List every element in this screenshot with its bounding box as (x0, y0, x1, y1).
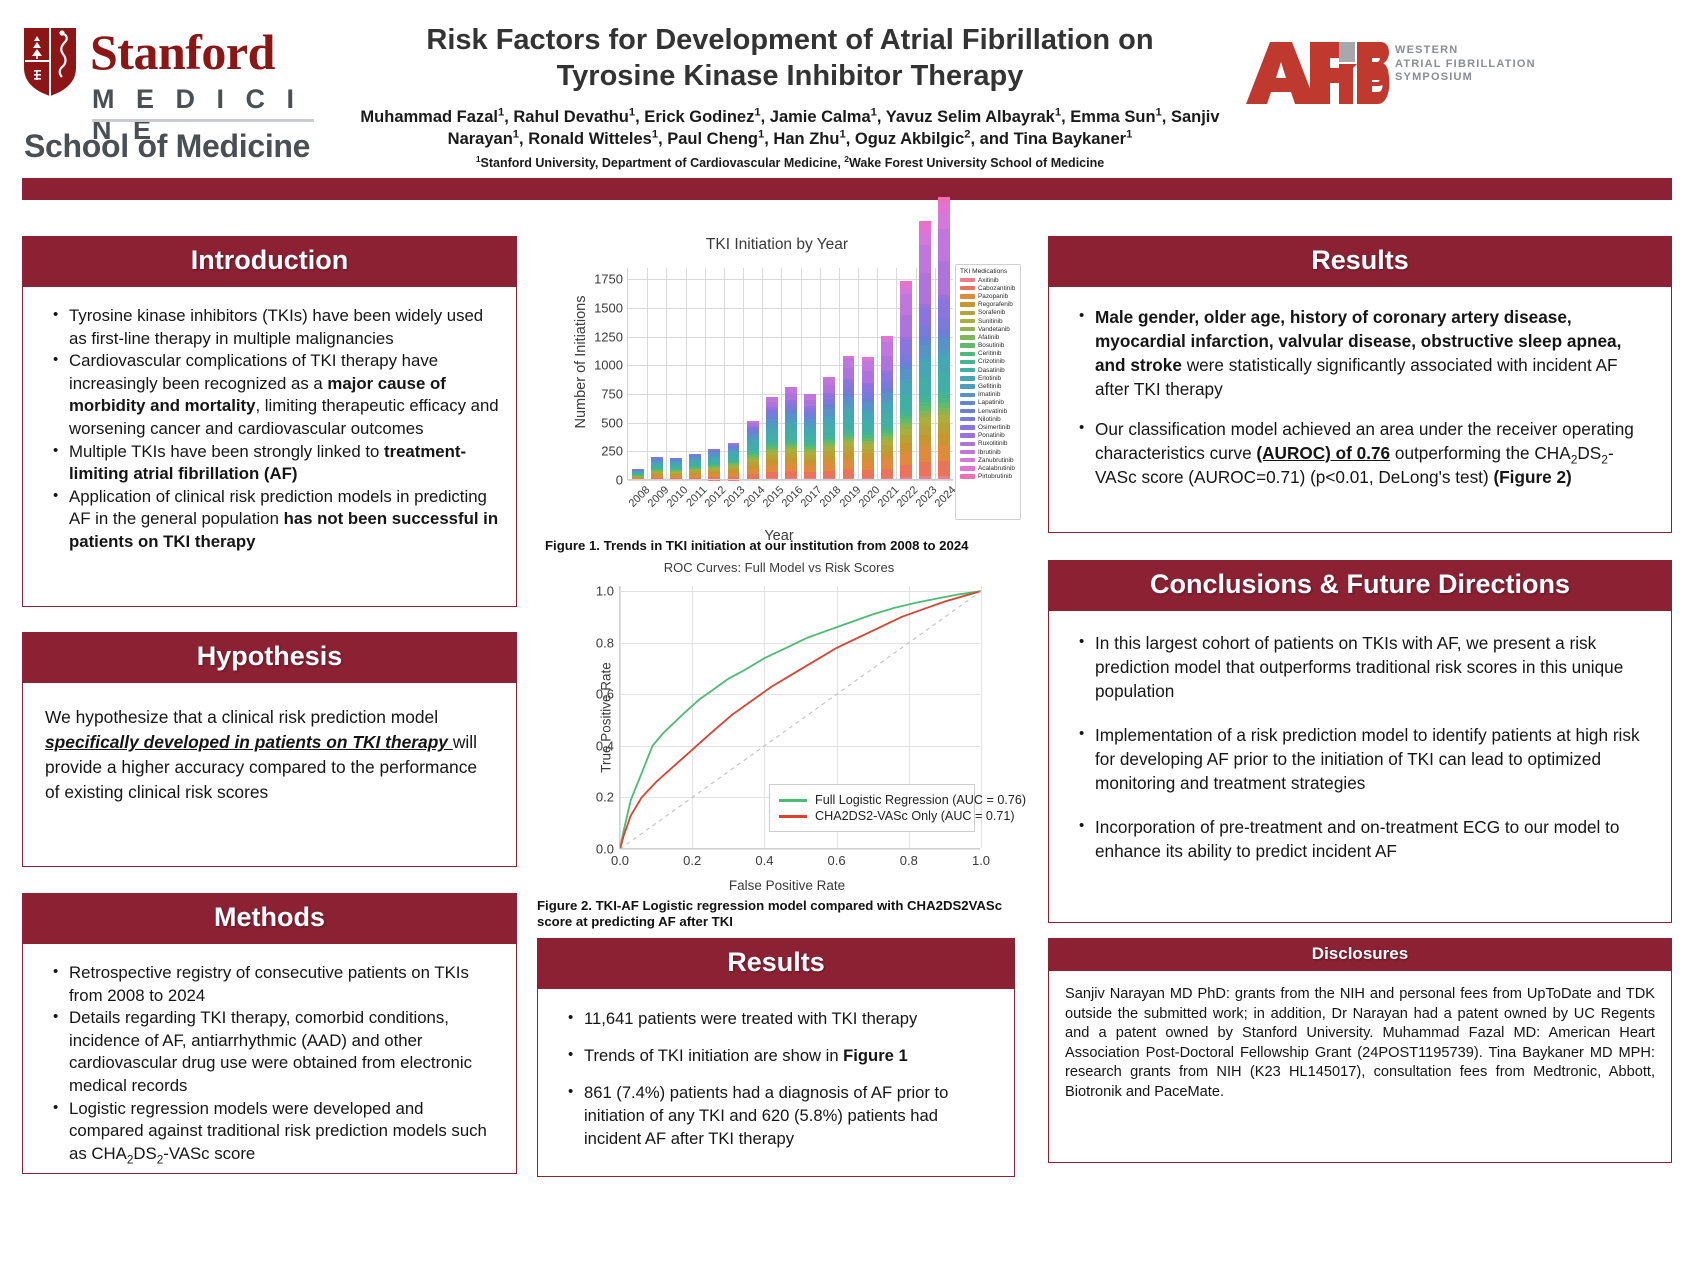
chart1-bar-segment (689, 466, 701, 467)
chart1-bar (689, 268, 701, 480)
afib-mark-icon (1240, 38, 1390, 111)
chart1-bar-segment (785, 414, 797, 420)
chart1-legend-item[interactable]: Lenvatinib (960, 407, 1017, 415)
chart1-bar-segment (785, 420, 797, 422)
hypothesis-panel: Hypothesis We hypothesize that a clinica… (22, 632, 517, 867)
chart1-bar (728, 268, 740, 480)
chart2-legend-label: CHA2DS2-VASc Only (AUC = 0.71) (815, 809, 1015, 823)
chart1-bar-segment (881, 356, 893, 371)
chart1-bar-segment (766, 418, 778, 420)
chart1-bar-segment (900, 337, 912, 340)
chart1-legend: TKI MedicationsAxitinibCabozantinibPazop… (955, 264, 1021, 520)
introduction-body: Tyrosine kinase inhibitors (TKIs) have b… (22, 287, 517, 607)
chart2-legend-label: Full Logistic Regression (AUC = 0.76) (815, 793, 1026, 807)
chart1-bar-segment (823, 471, 835, 478)
chart1-bar-segment (804, 452, 816, 456)
chart1-bar-segment (862, 470, 874, 478)
chart1-bar-segment (785, 448, 797, 450)
list-item: Multiple TKIs have been strongly linked … (53, 441, 502, 486)
chart1-bar-segment (862, 421, 874, 432)
chart1-bar-segment (689, 457, 701, 459)
chart1-legend-item[interactable]: Acalabrutinib (960, 464, 1017, 472)
chart1-bar-segment (785, 429, 797, 438)
chart1-bar-segment (785, 422, 797, 430)
chart1-bar-segment (938, 202, 950, 214)
chart1-bar-segment (804, 472, 816, 478)
chart1-legend-swatch (960, 450, 975, 454)
chart1-bar-segment (804, 394, 816, 400)
chart1-legend-label: Acalabrutinib (978, 465, 1015, 472)
chart1-bar-segment (938, 197, 950, 202)
chart1-bar (843, 268, 855, 480)
afib-text-line-3: SYMPOSIUM (1395, 71, 1536, 85)
chart1-gridline (647, 268, 648, 480)
title-line-2: Tyrosine Kinase Inhibitor Therapy (557, 60, 1024, 92)
chart1-bar-segment (938, 423, 950, 433)
chart1-legend-swatch (960, 425, 975, 429)
chart1-legend-label: Afatinib (978, 334, 999, 341)
chart1-bar-segment (670, 474, 682, 476)
chart1-bar-segment (766, 407, 778, 409)
chart1-bar-segment (785, 444, 797, 446)
chart1-bar-segment (900, 443, 912, 452)
chart1-bar-segment (919, 304, 931, 308)
chart1-bar-segment (689, 470, 701, 471)
chart1-legend-swatch (960, 352, 975, 356)
chart1-bar-segment (651, 460, 663, 461)
chart1-legend-item[interactable]: Ceritinib (960, 350, 1017, 358)
chart2-x-tick: 0.2 (683, 853, 701, 868)
chart1-legend-swatch (960, 311, 975, 315)
chart1-bar-segment (747, 433, 759, 434)
chart2-x-tick: 0.0 (611, 853, 629, 868)
chart1-gridline (820, 268, 821, 480)
chart1-bar-segment (919, 435, 931, 446)
chart1-legend-label: Vandetanib (978, 326, 1010, 333)
figure-1-caption: Figure 1. Trends in TKI initiation at ou… (545, 538, 1015, 554)
disclosures-text: Sanjiv Narayan MD PhD: grants from the N… (1065, 985, 1655, 1103)
chart1-legend-item[interactable]: Osimertinib (960, 423, 1017, 431)
chart1-bar-segment (670, 461, 682, 463)
chart1-bar-segment (881, 433, 893, 436)
chart1-bar-segment (881, 414, 893, 426)
chart1-legend-swatch (960, 409, 975, 413)
chart1-bar-segment (747, 458, 759, 459)
chart1-bar-segment (785, 458, 797, 464)
chart2-legend-swatch (779, 799, 807, 802)
chart1-bar-segment (728, 465, 740, 466)
chart1-bar-segment (728, 446, 740, 447)
chart1-bar-segment (881, 404, 893, 414)
chart1-bar-segment (708, 456, 720, 457)
disclosures-heading: Disclosures (1048, 938, 1672, 971)
chart1-legend-label: Nilotinib (978, 416, 1001, 423)
chart1-legend-item[interactable]: Crizotinib (960, 358, 1017, 366)
chart1-bar-segment (938, 335, 950, 339)
chart1-bar-segment (938, 392, 950, 398)
chart1-bar-segment (804, 411, 816, 415)
conclusions-heading: Conclusions & Future Directions (1048, 560, 1672, 611)
chart2-legend-item[interactable]: CHA2DS2-VASc Only (AUC = 0.71) (779, 809, 965, 823)
chart1-legend-item[interactable]: Dasatinib (960, 366, 1017, 374)
chart1-bar-segment (862, 410, 874, 413)
chart1-bar-segment (804, 449, 816, 450)
chart1-bar-segment (862, 371, 874, 383)
chart1-bar-segment (670, 458, 682, 459)
chart1-bar-segment (728, 468, 740, 470)
roc-curve-chart: True Positive Rate 0.00.20.40.60.81.00.0… (537, 560, 1021, 900)
chart1-bar-segment (862, 361, 874, 372)
chart1-bar-segment (689, 456, 701, 457)
chart1-legend-label: Sorafenib (978, 309, 1005, 316)
chart1-bar-segment (804, 442, 816, 445)
chart1-legend-swatch (960, 458, 975, 462)
chart1-bar-segment (823, 439, 835, 441)
chart2-x-tick: 0.4 (755, 853, 773, 868)
chart1-legend-label: Sunitinib (978, 318, 1003, 325)
results-top-heading: Results (1048, 236, 1672, 287)
chart1-gridline (877, 268, 878, 480)
chart1-bar-segment (728, 451, 740, 452)
methods-heading: Methods (22, 893, 517, 944)
chart1-legend-item[interactable]: Afatinib (960, 333, 1017, 341)
chart1-bar-segment (919, 446, 931, 462)
chart1-bar-segment (938, 433, 950, 445)
chart1-legend-swatch (960, 466, 975, 470)
chart1-bar-segment (766, 450, 778, 451)
chart1-bar-segment (881, 430, 893, 433)
chart1-legend-label: Pirtobrutinib (978, 473, 1012, 480)
chart1-bar-segment (708, 452, 720, 453)
chart1-legend-item[interactable]: Vandetanib (960, 325, 1017, 333)
chart1-legend-item[interactable]: Ibrutinib (960, 448, 1017, 456)
chart1-bar-segment (862, 438, 874, 441)
chart1-legend-label: Imatinib (978, 391, 1000, 398)
chart1-y-tick: 750 (601, 387, 623, 402)
chart1-bar-segment (843, 429, 855, 433)
chart1-bar-segment (919, 336, 931, 341)
results-bottom-panel: Results 11,641 patients were treated wit… (537, 938, 1015, 1177)
list-item: Tyrosine kinase inhibitors (TKIs) have b… (53, 305, 502, 350)
chart1-bar-segment (785, 412, 797, 414)
chart1-bar (919, 268, 931, 480)
chart1-bar-segment (785, 449, 797, 453)
chart1-bar-segment (632, 474, 644, 475)
chart1-legend-item[interactable]: Sunitinib (960, 317, 1017, 325)
chart1-legend-swatch (960, 474, 975, 478)
chart1-bar-segment (843, 469, 855, 477)
chart1-bar-segment (747, 455, 759, 457)
chart1-legend-item[interactable]: Gefitinib (960, 382, 1017, 390)
disclosures-panel: Disclosures Sanjiv Narayan MD PhD: grant… (1048, 938, 1672, 1163)
chart1-bar-segment (766, 447, 778, 449)
chart1-bar (747, 268, 759, 480)
chart1-legend-swatch (960, 433, 975, 437)
chart1-legend-item[interactable]: Pazopanib (960, 292, 1017, 300)
page-title: Risk Factors for Development of Atrial F… (340, 22, 1240, 94)
chart1-bar-segment (938, 403, 950, 408)
chart1-bar-segment (766, 452, 778, 456)
chart1-gridline (628, 480, 953, 481)
chart1-bar-segment (728, 452, 740, 456)
methods-list: Retrospective registry of consecutive pa… (23, 962, 512, 1165)
chart1-bar-segment (900, 423, 912, 426)
chart1-gridline (686, 268, 687, 480)
chart1-bar-segment (689, 459, 701, 460)
chart1-bar-segment (900, 429, 912, 436)
chart1-bar-segment (919, 396, 931, 402)
chart1-bar-segment (938, 299, 950, 320)
chart2-legend-item[interactable]: Full Logistic Regression (AUC = 0.76) (779, 793, 965, 807)
chart1-bar-segment (823, 441, 835, 443)
school-of-medicine-label: School of Medicine (24, 128, 310, 165)
chart1-bar-segment (919, 223, 931, 233)
chart1-bar-segment (900, 426, 912, 429)
chart1-bar-segment (766, 397, 778, 402)
chart1-bar-segment (843, 393, 855, 396)
chart1-bar-segment (689, 455, 701, 456)
chart1-legend-label: Ruxolitinib (978, 440, 1007, 447)
chart1-bar-segment (938, 214, 950, 229)
chart1-legend-label: Osimertinib (978, 424, 1010, 431)
chart1-bar-segment (766, 419, 778, 424)
chart1-bar-segment (881, 393, 893, 401)
chart1-legend-swatch (960, 335, 975, 339)
chart1-bar-segment (708, 453, 720, 456)
chart1-bar-segment (804, 460, 816, 465)
chart1-bar-segment (900, 315, 912, 337)
list-item: Logistic regression models were develope… (53, 1098, 502, 1166)
chart1-bar-segment (862, 435, 874, 438)
chart1-bar-segment (785, 453, 797, 458)
header-accent-bar (22, 178, 1672, 200)
chart1-bar-segment (708, 467, 720, 468)
chart1-y-tick: 1500 (594, 301, 623, 316)
chart1-bar-segment (938, 411, 950, 414)
chart1-bar-segment (919, 341, 931, 345)
chart1-bar-segment (804, 447, 816, 449)
chart1-bar-segment (708, 466, 720, 467)
chart2-x-tick: 0.6 (828, 853, 846, 868)
chart1-bar-segment (938, 408, 950, 411)
list-item: Cardiovascular complications of TKI ther… (53, 350, 502, 440)
list-item: Our classification model achieved an are… (1079, 417, 1649, 489)
chart1-legend-swatch (960, 319, 975, 323)
chart1-legend-item[interactable]: Erlotinib (960, 374, 1017, 382)
chart1-bar-segment (766, 465, 778, 472)
chart1-legend-item[interactable]: Imatinib (960, 391, 1017, 399)
results-top-panel: Results Male gender, older age, history … (1048, 236, 1672, 533)
chart1-gridline (801, 268, 802, 480)
chart1-bar-segment (766, 425, 778, 427)
chart1-bar-segment (708, 449, 720, 450)
chart1-bar (938, 268, 950, 480)
chart1-bar-segment (823, 444, 835, 446)
chart1-bar (632, 268, 644, 480)
chart1-bar-segment (804, 445, 816, 447)
chart1-bar-segment (785, 387, 797, 393)
chart1-gridline (858, 268, 859, 480)
chart1-bar-segment (785, 409, 797, 412)
chart1-y-tick: 1250 (594, 329, 623, 344)
chart1-bar-segment (651, 468, 663, 469)
chart1-bar-segment (651, 463, 663, 465)
chart1-bar-segment (919, 406, 931, 411)
poster-header: Stanford M E D I C I N E School of Medic… (0, 0, 1694, 182)
chart1-bar-segment (728, 448, 740, 449)
chart1-bar-segment (651, 473, 663, 474)
chart1-bar-segment (919, 357, 931, 362)
list-item: Male gender, older age, history of coron… (1079, 305, 1649, 401)
chart1-bar-segment (881, 426, 893, 430)
afib-logo-text: WESTERN ATRIAL FIBRILLATION SYMPOSIUM (1395, 44, 1536, 85)
chart1-bar-segment (862, 383, 874, 385)
chart1-bar-segment (632, 469, 644, 470)
chart1-bar-segment (708, 474, 720, 477)
chart1-gridline (724, 268, 725, 480)
chart1-legend-item[interactable]: Nilotinib (960, 415, 1017, 423)
chart1-bar-segment (938, 339, 950, 352)
chart1-gridline (896, 268, 897, 480)
chart1-x-tick: 2018 (818, 484, 844, 510)
chart1-bar-segment (881, 391, 893, 393)
chart1-gridline (935, 268, 936, 480)
conclusions-panel: Conclusions & Future Directions In this … (1048, 560, 1672, 923)
chart1-legend-item[interactable]: Regorafenib (960, 301, 1017, 309)
chart1-bar-segment (919, 417, 931, 425)
chart1-bar-segment (862, 441, 874, 443)
chart1-legend-item[interactable]: Cabozantinib (960, 284, 1017, 292)
chart1-bar-segment (651, 476, 663, 479)
chart1-bar-segment (938, 295, 950, 299)
chart1-bar-segment (785, 446, 797, 448)
list-item: Details regarding TKI therapy, comorbid … (53, 1007, 502, 1097)
chart1-bar-segment (689, 475, 701, 478)
chart1-legend-label: Gefitinib (978, 383, 1001, 390)
chart1-legend-item[interactable]: Bosutinib (960, 342, 1017, 350)
results-bottom-list: 11,641 patients were treated with TKI th… (538, 1007, 1002, 1150)
chart1-legend-item[interactable]: Pirtobrutinib (960, 473, 1017, 481)
chart1-legend-label: Ceritinib (978, 350, 1001, 357)
chart1-bar-segment (747, 462, 759, 465)
chart1-bar-segment (747, 428, 759, 431)
chart1-bar-segment (804, 434, 816, 442)
chart1-bar-segment (823, 409, 835, 415)
chart1-legend-swatch (960, 278, 975, 282)
chart1-bar-segment (747, 445, 759, 451)
chart1-bar-segment (900, 452, 912, 465)
chart1-bar-segment (728, 443, 740, 444)
chart1-bar-segment (900, 369, 912, 379)
hypothesis-text: We hypothesize that a clinical risk pred… (45, 705, 494, 805)
figure-2-caption: Figure 2. TKI-AF Logistic regression mod… (537, 898, 1015, 930)
chart1-bar-segment (785, 393, 797, 400)
chart1-legend-swatch (960, 327, 975, 331)
chart1-bar-segment (708, 451, 720, 452)
chart1-bar-segment (804, 450, 816, 451)
chart1-bar-segment (862, 385, 874, 392)
chart1-bar-segment (689, 467, 701, 468)
chart1-bar-segment (862, 357, 874, 359)
chart1-bar-segment (766, 449, 778, 450)
chart1-x-tick: 2013 (722, 484, 748, 510)
chart1-bar (823, 268, 835, 480)
chart1-bar-segment (919, 221, 931, 223)
chart1-legend-swatch (960, 343, 975, 347)
chart1-bar-segment (670, 463, 682, 465)
chart1-bar-segment (843, 439, 855, 441)
chart1-bar-segment (843, 406, 855, 409)
chart1-bar-segment (881, 438, 893, 440)
chart1-bar-segment (708, 468, 720, 470)
chart1-bar-segment (862, 461, 874, 470)
chart1-bar-segment (900, 340, 912, 354)
chart1-bar (862, 268, 874, 480)
chart2-y-tick: 1.0 (596, 584, 614, 599)
chart1-bar-segment (881, 388, 893, 391)
chart1-plot-area: 0250500750100012501500175020082009201020… (627, 268, 953, 480)
chart1-legend-item[interactable]: Axitinib (960, 276, 1017, 284)
chart1-bar-segment (823, 436, 835, 439)
chart2-x-tick: 0.8 (900, 853, 918, 868)
results-top-list: Male gender, older age, history of coron… (1049, 305, 1659, 489)
chart1-bar-segment (670, 459, 682, 460)
chart1-bar-segment (843, 433, 855, 436)
chart1-bar-segment (670, 460, 682, 461)
chart1-bar-segment (843, 418, 855, 429)
chart1-bar-segment (689, 469, 701, 470)
chart1-bar-segment (823, 400, 835, 405)
chart1-bar-segment (881, 373, 893, 382)
chart1-bar-segment (881, 469, 893, 478)
chart1-bar-segment (919, 308, 931, 326)
chart1-bar-segment (766, 445, 778, 447)
chart1-bar-segment (862, 398, 874, 401)
chart1-legend-swatch (960, 376, 975, 380)
chart1-legend-item[interactable]: Sorafenib (960, 309, 1017, 317)
chart1-bar-segment (862, 359, 874, 361)
chart1-legend-label: Crizotinib (978, 358, 1005, 365)
chart1-bar-segment (919, 345, 931, 357)
chart1-bar-segment (728, 444, 740, 445)
chart1-bar-segment (823, 393, 835, 395)
chart1-legend-label: Axitinib (978, 277, 999, 284)
chart1-legend-swatch (960, 286, 975, 290)
chart1-bar-segment (670, 470, 682, 471)
chart2-legend-swatch (779, 815, 807, 818)
chart1-legend-item[interactable]: Zanubrutinib (960, 456, 1017, 464)
chart1-bar-segment (823, 395, 835, 400)
chart1-bar-segment (881, 336, 893, 339)
chart1-y-tick: 0 (616, 473, 623, 488)
chart1-bar-segment (766, 455, 778, 459)
chart1-legend-swatch (960, 393, 975, 397)
chart1-gridline (705, 268, 706, 480)
chart1-legend-label: Lapatinib (978, 399, 1004, 406)
chart1-bar-segment (919, 245, 931, 273)
chart1-legend-label: Cabozantinib (978, 285, 1015, 292)
chart1-legend-item[interactable]: Ponatinib (960, 432, 1017, 440)
chart1-bar-segment (651, 469, 663, 470)
chart1-y-tick: 250 (601, 444, 623, 459)
chart1-legend-item[interactable]: Lapatinib (960, 399, 1017, 407)
chart1-bar-segment (728, 466, 740, 468)
results-bottom-body: 11,641 patients were treated with TKI th… (537, 989, 1015, 1177)
chart1-bar-segment (900, 465, 912, 477)
chart1-bar-segment (938, 461, 950, 476)
chart1-legend-item[interactable]: Ruxolitinib (960, 440, 1017, 448)
figure-1: TKI Initiation by Year Number of Initiat… (537, 230, 1021, 550)
